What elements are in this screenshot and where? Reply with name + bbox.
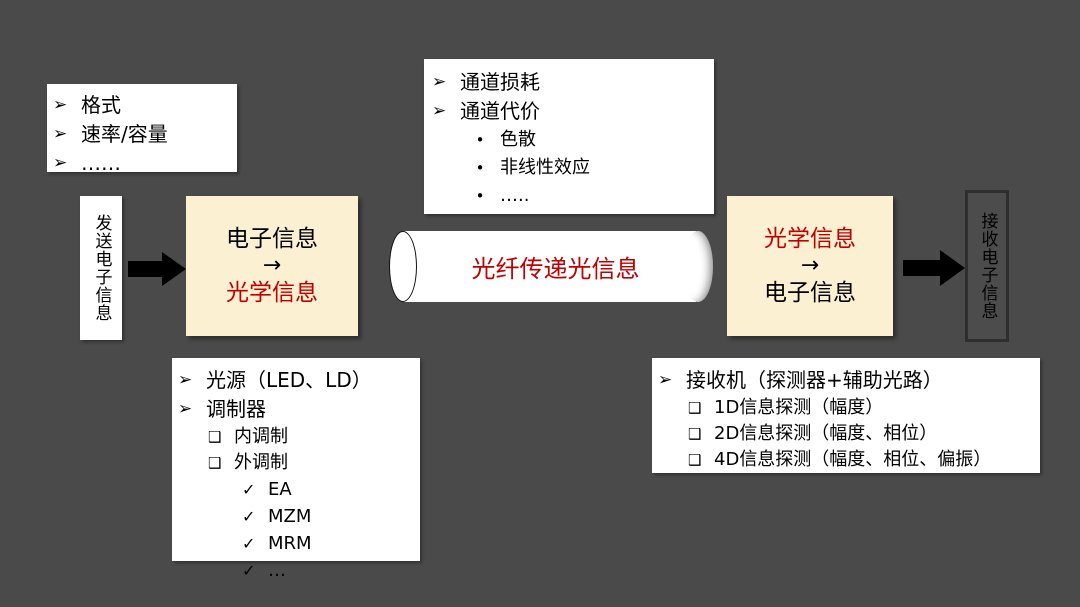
list-item: ✓ MRM xyxy=(178,530,420,557)
list-item: ✓ … xyxy=(178,557,420,584)
converter-rx-line2: 电子信息 xyxy=(764,279,856,308)
list-item-label: 光源（LED、LD） xyxy=(206,366,372,395)
list-item: ➢ 光源（LED、LD） xyxy=(178,366,420,395)
send-electronic-info-box: 发送电子信息 xyxy=(80,196,122,340)
receive-electronic-info-label: 接收电子信息 xyxy=(976,212,999,320)
converter-rx-line1: 光学信息 xyxy=(764,225,856,254)
list-item: • 色散 xyxy=(432,126,714,154)
electrical-to-optical-box: 电子信息 → 光学信息 xyxy=(186,196,358,336)
list-item-label: 速率/容量 xyxy=(81,120,168,149)
channel-impairments-list: ➢ 通道损耗 ➢ 通道代价 • 色散 • 非线性效应 • ….. xyxy=(432,68,714,210)
list-item: ❑ 2D信息探测（幅度、相位） xyxy=(658,421,1040,447)
list-item: ❑ 4D信息探测（幅度、相位、偏振） xyxy=(658,447,1040,473)
list-item-label: 外调制 xyxy=(234,450,288,476)
square-bullet-icon: ❑ xyxy=(208,450,234,476)
list-item: ➢ …… xyxy=(53,149,237,178)
square-bullet-icon: ❑ xyxy=(208,424,234,450)
arrow-bullet-icon: ➢ xyxy=(178,395,206,424)
check-bullet-icon: ✓ xyxy=(242,530,268,557)
list-item-label: 1D信息探测（幅度） xyxy=(714,395,883,421)
square-bullet-icon: ❑ xyxy=(688,447,714,473)
transmitter-parameters-list: ➢ 格式 ➢ 速率/容量 ➢ …… xyxy=(53,91,237,178)
list-item: ✓ EA xyxy=(178,476,420,503)
receiver-detection-box: ➢ 接收机（探测器+辅助光路） ❑ 1D信息探测（幅度） ❑ 2D信息探测（幅度… xyxy=(652,358,1040,473)
list-item-label: 色散 xyxy=(500,126,536,154)
converter-tx-arrow-icon: → xyxy=(263,253,281,278)
list-item-label: 非线性效应 xyxy=(500,154,590,182)
list-item-label: 格式 xyxy=(81,91,121,120)
square-bullet-icon: ❑ xyxy=(688,421,714,447)
dot-bullet-icon: • xyxy=(460,126,500,154)
square-bullet-icon: ❑ xyxy=(688,395,714,421)
arrow-bullet-icon: ➢ xyxy=(53,149,81,178)
list-item: ➢ 格式 xyxy=(53,91,237,120)
list-item-label: ….. xyxy=(500,182,529,210)
list-item: • 非线性效应 xyxy=(432,154,714,182)
list-item: ➢ 通道损耗 xyxy=(432,68,714,97)
list-item: ❑ 1D信息探测（幅度） xyxy=(658,395,1040,421)
arrow-bullet-icon: ➢ xyxy=(53,91,81,120)
arrow-bullet-icon: ➢ xyxy=(432,68,460,97)
check-bullet-icon: ✓ xyxy=(242,503,268,530)
converter-tx-line2: 光学信息 xyxy=(226,279,318,308)
list-item-label: …… xyxy=(81,149,121,178)
list-item-label: 通道损耗 xyxy=(460,68,540,97)
fiber-channel-cylinder: 光纤传递光信息 xyxy=(389,231,712,302)
list-item-label: 内调制 xyxy=(234,424,288,450)
list-item: ❑ 内调制 xyxy=(178,424,420,450)
list-item-label: … xyxy=(268,557,286,584)
list-item-label: MRM xyxy=(268,530,312,557)
receive-electronic-info-box: 接收电子信息 xyxy=(965,190,1009,342)
check-bullet-icon: ✓ xyxy=(242,476,268,503)
arrow-bullet-icon: ➢ xyxy=(658,366,686,395)
list-item: ➢ 通道代价 xyxy=(432,97,714,126)
list-item-label: MZM xyxy=(268,503,311,530)
source-and-modulator-box: ➢ 光源（LED、LD） ➢ 调制器 ❑ 内调制 ❑ 外调制 ✓ EA ✓ MZ… xyxy=(172,358,420,561)
slide-canvas: ➢ 格式 ➢ 速率/容量 ➢ …… ➢ 通道损耗 ➢ 通道代价 xyxy=(0,0,1080,607)
arrow-bullet-icon: ➢ xyxy=(53,120,81,149)
channel-impairments-box: ➢ 通道损耗 ➢ 通道代价 • 色散 • 非线性效应 • ….. xyxy=(424,59,714,214)
converter-tx-line1: 电子信息 xyxy=(226,225,318,254)
list-item: ➢ 调制器 xyxy=(178,395,420,424)
list-item-label: 通道代价 xyxy=(460,97,540,126)
check-bullet-icon: ✓ xyxy=(242,557,268,584)
dot-bullet-icon: • xyxy=(460,182,500,210)
arrow-bullet-icon: ➢ xyxy=(178,366,206,395)
send-electronic-info-label: 发送电子信息 xyxy=(90,214,113,322)
list-item: ❑ 外调制 xyxy=(178,450,420,476)
fiber-channel-label: 光纤传递光信息 xyxy=(389,231,712,302)
arrow-transmit xyxy=(128,252,186,286)
list-item-label: 2D信息探测（幅度、相位） xyxy=(714,421,937,447)
transmitter-parameters-box: ➢ 格式 ➢ 速率/容量 ➢ …… xyxy=(47,84,237,172)
list-item-label: EA xyxy=(268,476,292,503)
converter-rx-arrow-icon: → xyxy=(801,253,819,278)
optical-to-electrical-box: 光学信息 → 电子信息 xyxy=(727,196,893,336)
arrow-receive xyxy=(903,250,965,286)
source-and-modulator-list: ➢ 光源（LED、LD） ➢ 调制器 ❑ 内调制 ❑ 外调制 ✓ EA ✓ MZ… xyxy=(178,366,420,584)
list-item: • ….. xyxy=(432,182,714,210)
list-item: ➢ 速率/容量 xyxy=(53,120,237,149)
list-item: ➢ 接收机（探测器+辅助光路） xyxy=(658,366,1040,395)
receiver-detection-list: ➢ 接收机（探测器+辅助光路） ❑ 1D信息探测（幅度） ❑ 2D信息探测（幅度… xyxy=(658,366,1040,473)
dot-bullet-icon: • xyxy=(460,154,500,182)
arrow-bullet-icon: ➢ xyxy=(432,97,460,126)
list-item-label: 4D信息探测（幅度、相位、偏振） xyxy=(714,447,991,473)
list-item: ✓ MZM xyxy=(178,503,420,530)
list-item-label: 接收机（探测器+辅助光路） xyxy=(686,366,943,395)
list-item-label: 调制器 xyxy=(206,395,266,424)
